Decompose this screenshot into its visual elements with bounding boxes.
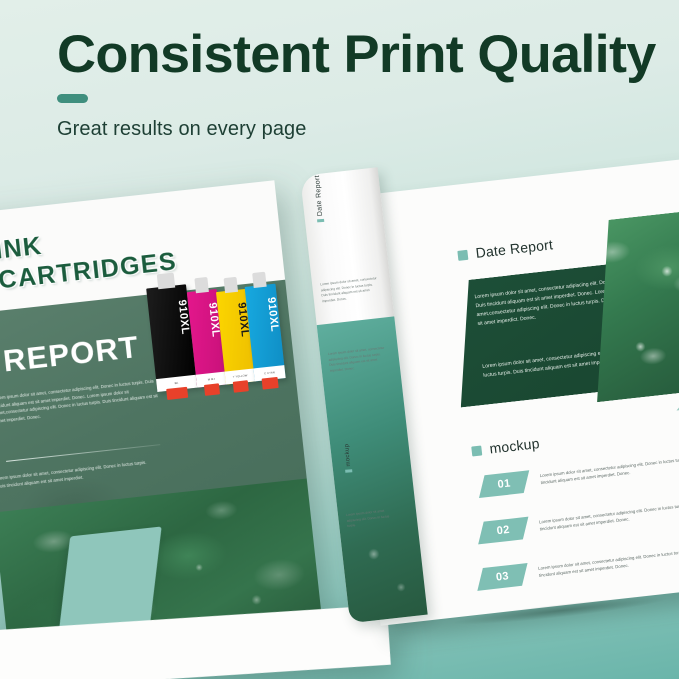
date-report-heading-row: Date Report <box>457 236 554 263</box>
mockup-item-text: Lorem ipsum dolor sit amet, consectetur … <box>537 542 679 579</box>
page-title: Consistent Print Quality <box>57 28 669 81</box>
mockup-number-badge: 03 <box>477 563 527 591</box>
cartridge-model-label: 910XL <box>148 299 192 338</box>
right-booklet-mockup: Date Report Lorem ipsum dolor sit amet, … <box>300 131 679 643</box>
mockup-item-2: 02 Lorem ipsum dolor sit amet, consectet… <box>480 496 679 544</box>
header-block: Consistent Print Quality Great results o… <box>57 28 657 141</box>
report-body-1: Lorem ipsum dolor sit amet, consectetur … <box>0 377 163 426</box>
promo-banner: Consistent Print Quality Great results o… <box>0 0 679 679</box>
cartridge-cap <box>157 273 175 290</box>
mockup-heading: mockup <box>489 435 541 456</box>
spine-text-1: Lorem ipsum dolor sit amet, consectetur … <box>320 276 380 305</box>
mockup-heading-row: mockup <box>471 435 541 459</box>
spine-label-date-report: Date Report <box>314 175 325 222</box>
mockup-number-badge: 02 <box>478 517 528 545</box>
cartridge-cap <box>252 272 267 288</box>
square-icon <box>317 219 324 223</box>
square-icon <box>457 250 468 261</box>
cartridge-cap <box>194 277 208 293</box>
ink-cartridge-group: 910XL BK 910XL M MJ 910XL Y YELLOW 910XL… <box>143 239 313 400</box>
cartridge-clip <box>232 380 249 393</box>
mockup-number: 01 <box>497 477 511 490</box>
cartridge-clip <box>166 387 188 400</box>
cartridge-clip <box>204 383 221 396</box>
cartridge-cap <box>224 277 238 293</box>
date-report-heading: Date Report <box>475 236 554 261</box>
report-heading: REPORT <box>1 329 140 380</box>
mockup-item-text: Lorem ipsum dolor sit amet, consectetur … <box>539 450 679 487</box>
mockup-number: 02 <box>496 524 510 537</box>
mockup-item-1: 01 Lorem ipsum dolor sit amet, consectet… <box>481 450 679 498</box>
square-icon <box>345 469 352 473</box>
spine-label-text: Date Report <box>314 175 324 216</box>
mockup-item-text: Lorem ipsum dolor sit amet, consectetur … <box>538 496 679 533</box>
cartridge-clip <box>261 377 278 390</box>
page-subtitle: Great results on every page <box>57 118 657 141</box>
mockup-number: 03 <box>495 570 509 583</box>
mockup-item-3: 03 Lorem ipsum dolor sit amet, consectet… <box>479 542 679 590</box>
square-icon <box>471 446 482 457</box>
accent-bar <box>57 94 88 103</box>
report-body-2: Lorem ipsum dolor sit amet, consectetur … <box>0 459 148 491</box>
cartridge-model-label: 910XL <box>246 297 281 335</box>
mockup-number-badge: 01 <box>479 470 529 498</box>
